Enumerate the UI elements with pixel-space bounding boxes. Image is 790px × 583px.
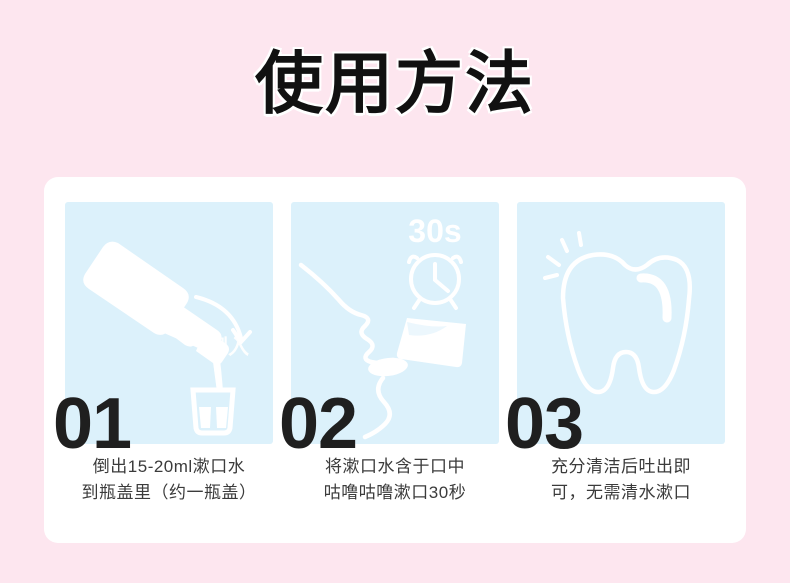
steps-row: 倒入 01 倒出15-20ml漱口水 到瓶盖里（约一瓶盖） — [65, 202, 725, 520]
bottle-pouring-into-cup-icon — [83, 242, 229, 392]
step-caption-line-2: 咕噜咕噜漱口30秒 — [291, 480, 499, 506]
pour-label: 倒入 — [206, 336, 249, 359]
page-title: 使用方法 — [0, 46, 790, 122]
step-number-02: 02 — [279, 388, 357, 460]
alarm-clock-icon — [409, 255, 461, 308]
shine-lines-icon — [545, 233, 581, 278]
step-number-03: 03 — [505, 388, 583, 460]
tooth-shine-icon — [641, 278, 667, 318]
step-item-01: 倒入 01 倒出15-20ml漱口水 到瓶盖里（约一瓶盖） — [65, 202, 273, 520]
cup-tilted-icon — [397, 318, 466, 367]
step-caption-line-2: 到瓶盖里（约一瓶盖） — [65, 480, 273, 506]
step-number-01: 01 — [53, 388, 131, 460]
duration-label: 30s — [408, 213, 461, 249]
steps-card: 倒入 01 倒出15-20ml漱口水 到瓶盖里（约一瓶盖） — [44, 177, 746, 543]
step-item-03: 03 充分清洁后吐出即 可，无需清水漱口 — [517, 202, 725, 520]
sparkling-tooth-icon — [563, 254, 690, 392]
cup-icon — [193, 390, 233, 433]
step-item-02: 30s 02 将漱口水含于口中 咕噜咕噜漱口30秒 — [291, 202, 499, 520]
step-caption-line-2: 可，无需清水漱口 — [517, 480, 725, 506]
